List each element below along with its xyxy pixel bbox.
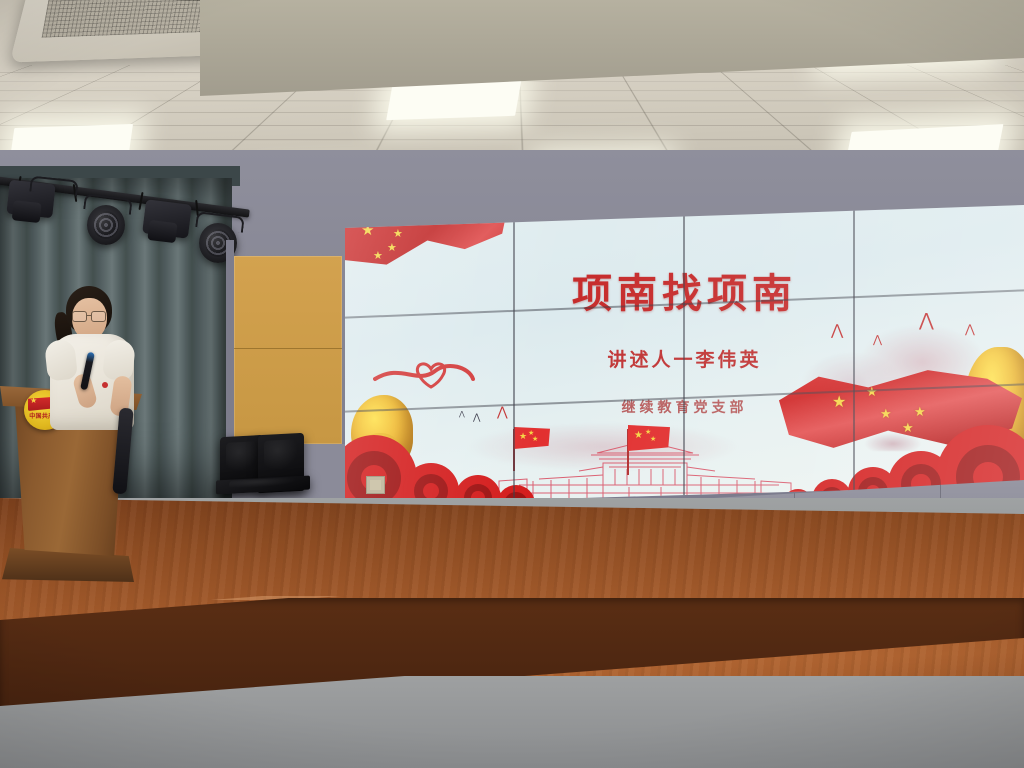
badge-star-icon: ★ bbox=[30, 397, 37, 405]
videowall-bezel-seam bbox=[513, 205, 515, 505]
videowall-bezel-seam bbox=[683, 205, 685, 505]
sleeve bbox=[102, 339, 136, 382]
bird-icon: ⋀ bbox=[965, 323, 975, 335]
video-wall-display[interactable]: ★ ★ ★ ★ ★ ⋀ ⋀ ⋀ ⋀ ⋀ ⋀ ⋀ ★ ★ ★ bbox=[345, 205, 1024, 505]
videowall-bezel-seam bbox=[853, 205, 855, 505]
flag-star: ★ bbox=[645, 429, 651, 436]
moving-head-light bbox=[142, 199, 192, 238]
flag-star: ★ bbox=[393, 229, 403, 240]
acoustic-wall-panel bbox=[234, 256, 342, 444]
room-scene: ★ ★ ★ ★ ★ ⋀ ⋀ ⋀ ⋀ ⋀ ⋀ ⋀ ★ ★ ★ bbox=[0, 0, 1024, 768]
wall-divider-strip bbox=[226, 240, 234, 460]
flag-star: ★ bbox=[650, 436, 656, 443]
flag-star: ★ bbox=[634, 431, 643, 441]
slide-canvas: ★ ★ ★ ★ ★ ⋀ ⋀ ⋀ ⋀ ⋀ ⋀ ⋀ ★ ★ ★ bbox=[345, 205, 1024, 505]
flag-star: ★ bbox=[387, 243, 397, 254]
lapel-pin bbox=[102, 382, 108, 388]
wall-outlet[interactable] bbox=[366, 476, 385, 494]
tiananmen-flag: ★ ★ ★ bbox=[628, 425, 670, 451]
glasses-icon bbox=[72, 311, 106, 320]
bird-icon: ⋀ bbox=[831, 323, 843, 338]
par-light bbox=[87, 205, 125, 245]
speaker-person bbox=[44, 286, 140, 476]
